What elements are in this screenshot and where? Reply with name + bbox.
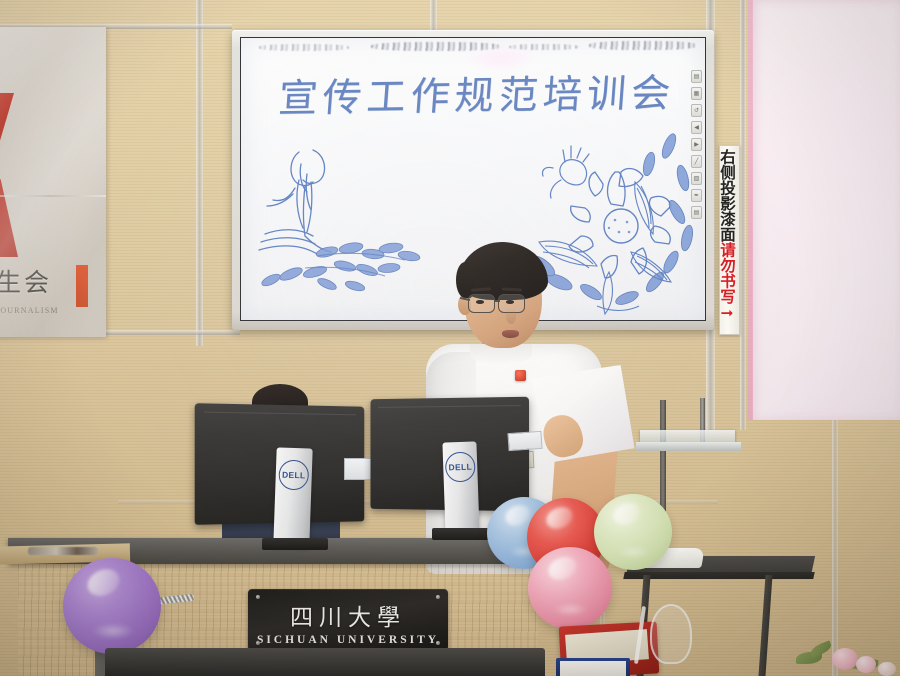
flower-bloom: [878, 662, 896, 676]
sign-black-text: 右侧投影漆面: [718, 149, 736, 242]
plaque-screw: [436, 595, 440, 599]
whiteboard-button-grid-icon[interactable]: ▤: [691, 70, 702, 83]
projection-warning-sign: 右侧投影漆面请勿书写➞: [719, 145, 740, 335]
poster-chinese-text: 生会: [0, 263, 52, 299]
monitor-left-stand: DELL: [273, 447, 312, 546]
poster-red-shape-lower: [0, 179, 18, 257]
wall-seam: [196, 0, 203, 346]
wall-seam: [740, 0, 746, 430]
poster-english-text: JOURNALISM: [0, 306, 59, 315]
speaker-hair-sideburn: [456, 262, 474, 298]
classroom-photo: 生会 JOURNALISM 宣传工作规范培训会: [0, 0, 900, 676]
wall-seam: [430, 0, 437, 34]
shirt-badge-pin: [515, 370, 526, 381]
whiteboard-button-strip[interactable]: ▤ ▦ ↺ ◀ ▶ ╱ ▧ ✒ ▤: [691, 70, 703, 223]
whiteboard-button-undo-icon[interactable]: ↺: [691, 104, 702, 117]
plaque-chinese-name: 四川大學: [248, 598, 448, 632]
monitor-label-sticker: [344, 458, 372, 480]
wall-poster: 生会 JOURNALISM: [0, 27, 106, 337]
speaker-nose: [506, 308, 516, 324]
flower-bloom: [832, 648, 858, 670]
desk-clutter: [28, 547, 98, 555]
side-table-edge: [623, 572, 814, 579]
whiteboard-button-pen-icon[interactable]: ✒: [691, 189, 702, 202]
whiteboard-button-menu-icon[interactable]: ▤: [691, 206, 702, 219]
blue-folder-prop: [556, 658, 630, 676]
dell-wordmark: DELL: [448, 462, 472, 473]
dell-logo-right: DELL: [445, 451, 476, 482]
poster-red-shape-upper: [0, 93, 14, 163]
plaque-english-name: SICHUAN UNIVERSITY: [248, 634, 448, 646]
poster-accent-bar: [76, 265, 88, 307]
flower-arrangement: [796, 638, 900, 676]
balloon-pink: [528, 547, 612, 629]
glasses-lens-left: [468, 294, 495, 313]
whiteboard-smudge: [589, 41, 697, 50]
plaque-screw: [256, 595, 260, 599]
shelf-board: [636, 442, 741, 451]
whiteboard-smudge: [259, 44, 349, 51]
monitor-left-base: [262, 538, 328, 550]
projection-edge-glow: [748, 0, 753, 420]
monitor-right-stand: DELL: [442, 441, 479, 534]
whiteboard-button-erase-icon[interactable]: ▧: [691, 172, 702, 185]
whiteboard-button-line-icon[interactable]: ╱: [691, 155, 702, 168]
plaque-screw: [436, 641, 440, 645]
clear-plastic-tube: [650, 604, 692, 664]
held-paper: [528, 365, 639, 463]
whiteboard-button-prev-icon[interactable]: ◀: [691, 121, 702, 134]
sign-red-text: 请勿书写➞: [718, 242, 736, 322]
podium-plaque: 四川大學 SICHUAN UNIVERSITY: [248, 589, 448, 651]
whiteboard-button-next-icon[interactable]: ▶: [691, 138, 702, 151]
projection-surface: [752, 0, 900, 420]
dell-wordmark: DELL: [282, 470, 306, 481]
monitor-bezel-line: [378, 405, 521, 408]
dell-logo-left: DELL: [278, 459, 309, 490]
blue-folder-paper: [560, 661, 626, 676]
front-desk-edge: [105, 648, 545, 676]
monitor-side-sticker: [507, 431, 542, 451]
speaker-mouth: [502, 330, 519, 338]
glasses-bridge: [495, 300, 500, 302]
plaque-screw: [256, 641, 260, 645]
balloon-green: [594, 494, 672, 570]
poster-crease: [0, 195, 106, 197]
whiteboard-title: 宣传工作规范培训会: [277, 62, 678, 124]
speaker-eye-left: [476, 300, 484, 304]
whiteboard-drawing-iris: [255, 144, 435, 304]
balloon-purple: [63, 558, 161, 654]
whiteboard-button-pages-icon[interactable]: ▦: [691, 87, 702, 100]
monitor-bezel-line: [204, 412, 357, 416]
flower-bloom: [856, 656, 876, 673]
speaker-eye-right: [506, 300, 514, 304]
